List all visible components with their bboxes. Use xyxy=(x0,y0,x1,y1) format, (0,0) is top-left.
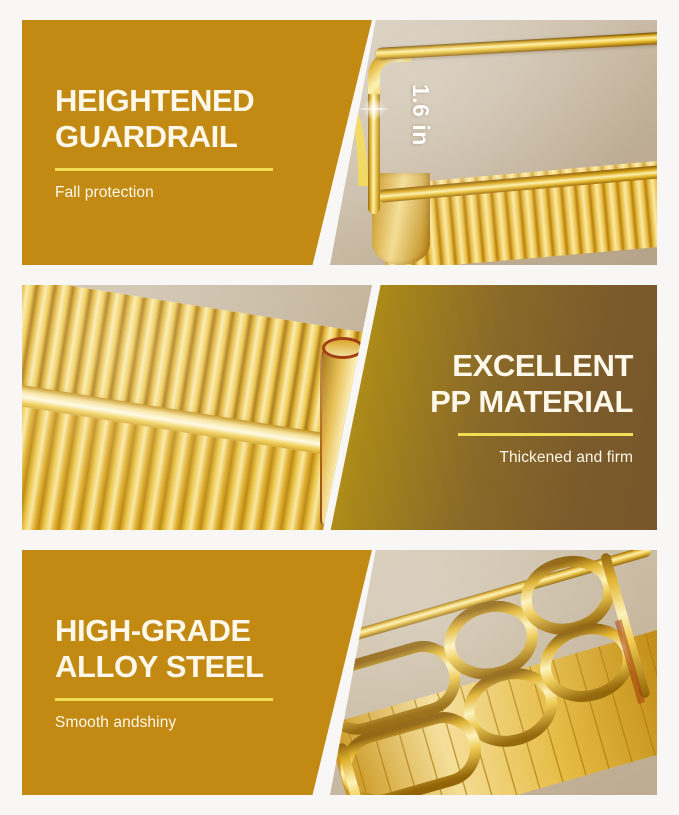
feature-subline: Fall protection xyxy=(55,184,372,202)
feature-subline: Smooth andshiny xyxy=(55,714,372,732)
feature-headline-line2: PP MATERIAL xyxy=(430,384,633,420)
feature-subline: Thickened and firm xyxy=(499,449,633,467)
feature-headline-line1: HIGH-GRADE xyxy=(55,613,372,649)
headline-divider xyxy=(458,433,633,436)
feature-text-panel-alloy-steel: HIGH-GRADE ALLOY STEEL Smooth andshiny xyxy=(22,550,372,795)
feature-photo-alloy-steel xyxy=(330,550,657,795)
alloy-loops-photo-scene xyxy=(330,550,657,795)
headline-divider xyxy=(55,698,273,701)
feature-text-panel-guardrail: HEIGHTENED GUARDRAIL Fall protection xyxy=(22,20,372,265)
feature-headline-line2: ALLOY STEEL xyxy=(55,649,372,685)
measurement-label: 1.6 in xyxy=(407,84,434,146)
feature-text-panel-pp-material: EXCELLENT PP MATERIAL Thickened and firm xyxy=(324,285,657,530)
feature-photo-guardrail: 1.6 in xyxy=(330,20,657,265)
feature-photo-pp-material xyxy=(22,285,372,530)
feature-row-guardrail: HEIGHTENED GUARDRAIL Fall protection 1.6… xyxy=(22,20,657,265)
feature-row-pp-material: EXCELLENT PP MATERIAL Thickened and firm xyxy=(22,285,657,530)
guardrail-photo-scene: 1.6 in xyxy=(330,20,657,265)
headline-divider xyxy=(55,168,273,171)
guardrail-top-bar xyxy=(376,31,657,60)
feature-headline-line1: EXCELLENT xyxy=(452,348,633,384)
alloy-steel-loops-graphic xyxy=(330,550,657,795)
tray-photo-scene xyxy=(22,285,372,530)
feature-row-alloy-steel: HIGH-GRADE ALLOY STEEL Smooth andshiny xyxy=(22,550,657,795)
product-feature-infographic: HEIGHTENED GUARDRAIL Fall protection 1.6… xyxy=(0,0,679,815)
feature-headline-line2: GUARDRAIL xyxy=(55,119,372,155)
tray-corner-ring xyxy=(322,337,364,359)
feature-headline-line1: HEIGHTENED xyxy=(55,83,372,119)
